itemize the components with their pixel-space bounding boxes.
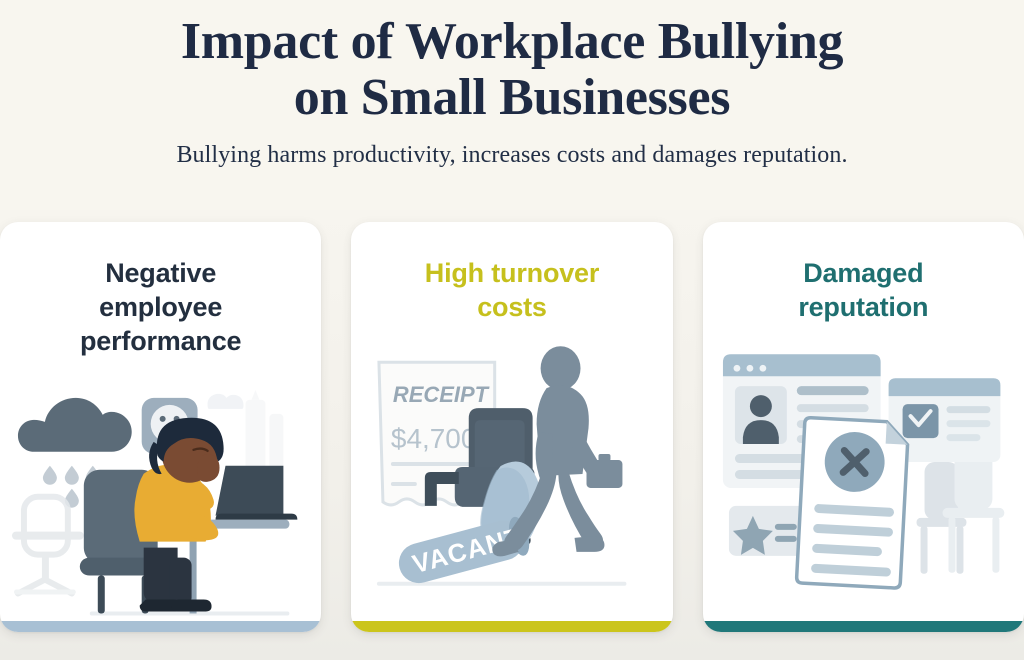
card-1-title-line-2: employee performance	[16, 290, 305, 358]
card-3-title-line-2: reputation	[719, 290, 1008, 324]
laptop-icon	[216, 466, 298, 520]
card-damaged-reputation[interactable]: Damaged reputation	[703, 222, 1024, 632]
receipt-amount: $4,700	[391, 423, 476, 454]
card-high-turnover-costs[interactable]: High turnover costs RECEIPT $4,700	[351, 222, 672, 632]
card-2-title: High turnover costs	[351, 222, 672, 324]
card-grid: Negative employee performance	[0, 222, 1024, 632]
card-1-accent-bar	[0, 621, 321, 632]
card-3-title-line-1: Damaged	[719, 256, 1008, 290]
card-3-illustration	[703, 328, 1024, 632]
small-cloud-icon	[208, 394, 244, 409]
card-negative-employee-performance[interactable]: Negative employee performance	[0, 222, 321, 632]
star-rating-card	[729, 506, 805, 556]
card-3-accent-bar	[703, 621, 1024, 632]
document-with-x-icon	[796, 417, 908, 588]
card-2-title-line-2: costs	[367, 290, 656, 324]
card-1-title-line-1: Negative	[16, 256, 305, 290]
card-1-title: Negative employee performance	[0, 222, 321, 358]
receipt-label: RECEIPT	[393, 382, 490, 407]
empty-office-chair-icon	[12, 497, 84, 595]
page-title-line-2: on Small Businesses	[0, 70, 1024, 126]
card-2-title-line-1: High turnover	[367, 256, 656, 290]
page-subtitle: Bullying harms productivity, increases c…	[0, 142, 1024, 169]
page-title: Impact of Workplace Bullying on Small Bu…	[0, 14, 1024, 126]
page-header: Impact of Workplace Bullying on Small Bu…	[0, 0, 1024, 169]
card-2-accent-bar	[351, 621, 672, 632]
card-3-title: Damaged reputation	[703, 222, 1024, 324]
card-1-illustration	[0, 362, 321, 632]
page-title-line-1: Impact of Workplace Bullying	[0, 14, 1024, 70]
card-2-illustration: RECEIPT $4,700	[351, 328, 672, 632]
